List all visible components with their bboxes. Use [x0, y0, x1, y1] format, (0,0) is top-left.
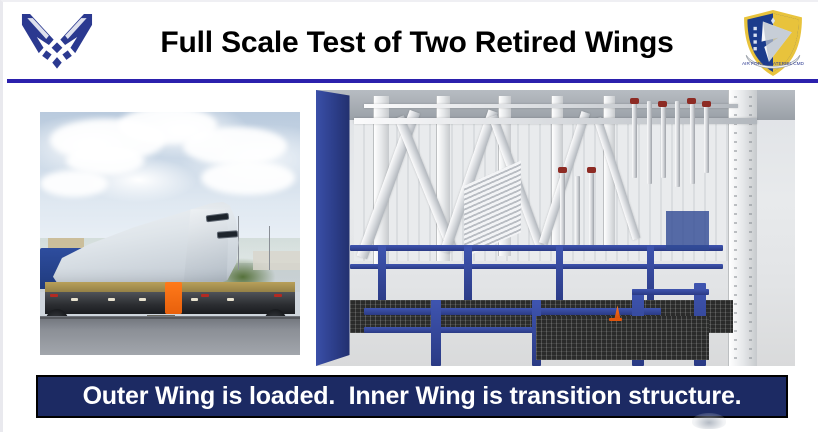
- blue-structural-column: [316, 90, 350, 366]
- actuator-fitting: [558, 167, 567, 173]
- actuator-fitting: [702, 101, 711, 107]
- metal-grating-deck-lower: [536, 316, 708, 360]
- overhead-beam: [364, 104, 738, 108]
- lower-guard-rail-rail: [632, 289, 709, 296]
- hydraulic-actuator: [589, 173, 594, 248]
- svg-text:AIR FORCE MATERIEL CMD: AIR FORCE MATERIEL CMD: [742, 61, 805, 66]
- slide-root: Full Scale Test of Two Retired Wings AIR…: [0, 0, 818, 432]
- retired-wing-on-flatbed-trailer-photo: [40, 112, 300, 355]
- trailer-reflector: [201, 294, 209, 297]
- actuator-fitting: [658, 101, 667, 107]
- guard-rail-post: [556, 245, 564, 306]
- trailer-marker-light: [139, 298, 146, 301]
- page-title: Full Scale Test of Two Retired Wings: [107, 18, 727, 68]
- guard-rail-post: [378, 245, 386, 306]
- actuator-fitting: [587, 167, 596, 173]
- hydraulic-actuator: [647, 101, 652, 184]
- trailer-reflector: [50, 294, 58, 297]
- guard-rail-mid: [350, 264, 724, 269]
- column-rivet-row: [734, 96, 737, 361]
- hydraulic-actuator: [675, 101, 680, 187]
- guard-rail-post: [464, 245, 472, 306]
- hydraulic-actuator: [632, 101, 637, 178]
- structural-test-facility-photo: [316, 90, 795, 366]
- background-building: [253, 251, 300, 270]
- background-blue-panel: [666, 211, 709, 250]
- trailer-marker-light: [227, 298, 234, 301]
- header-divider-rule: [7, 79, 818, 83]
- cloud-shape: [201, 161, 295, 195]
- trailer-marker-light: [108, 298, 115, 301]
- actuator-fitting: [630, 98, 639, 104]
- hydraulic-actuator: [560, 173, 565, 245]
- cloud-shape: [40, 170, 108, 197]
- trailer-marker-light: [71, 298, 78, 301]
- slide-header: Full Scale Test of Two Retired Wings AIR…: [3, 2, 818, 80]
- column-rivet-row: [749, 96, 752, 361]
- lower-guard-rail-post: [431, 300, 441, 366]
- trailer-reflector: [274, 294, 282, 297]
- pavement-edge: [40, 317, 300, 319]
- corner-artifact: [692, 413, 726, 429]
- trailer-marker-light: [191, 298, 198, 301]
- orange-safety-flag: [165, 282, 182, 314]
- hydraulic-actuator: [704, 101, 709, 173]
- light-pole: [269, 226, 271, 270]
- actuator-fitting: [687, 98, 696, 104]
- air-force-materiel-command-shield: AIR FORCE MATERIEL CMD: [739, 8, 807, 78]
- caption-text: Outer Wing is loaded. Inner Wing is tran…: [83, 382, 742, 411]
- cloud-shape: [183, 127, 287, 166]
- guard-rail-post: [647, 245, 655, 306]
- hydraulic-actuator: [575, 176, 580, 245]
- usaf-wings-logo: [15, 10, 99, 72]
- pavement: [40, 316, 300, 355]
- overhead-beam: [354, 118, 756, 124]
- hydraulic-actuator: [690, 104, 695, 184]
- caption-banner: Outer Wing is loaded. Inner Wing is tran…: [36, 375, 788, 418]
- hydraulic-actuator: [661, 104, 666, 179]
- safety-cone-base: [609, 318, 622, 321]
